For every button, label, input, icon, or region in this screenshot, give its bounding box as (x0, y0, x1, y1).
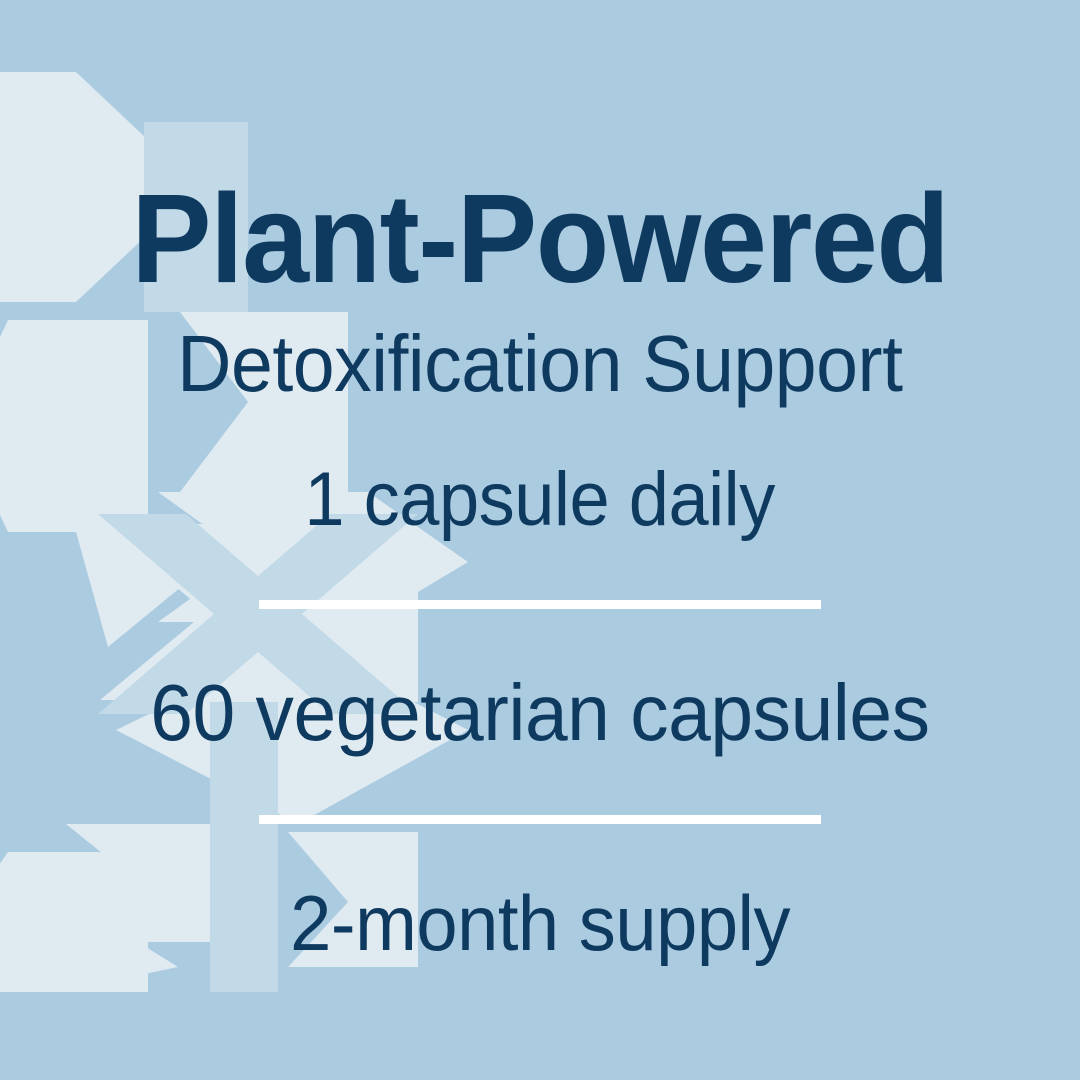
page-title: Plant-Powered (131, 176, 948, 302)
fact-supply: 2-month supply (290, 884, 790, 962)
divider-first (259, 600, 821, 609)
content-stack: Plant-Powered Detoxification Support 1 c… (0, 0, 1080, 1080)
fact-count: 60 vegetarian capsules (150, 673, 929, 753)
page-subtitle: Detoxification Support (177, 324, 902, 404)
product-benefits-infographic: Plant-Powered Detoxification Support 1 c… (0, 0, 1080, 1080)
divider-second (259, 815, 821, 824)
fact-dosage: 1 capsule daily (305, 462, 776, 538)
